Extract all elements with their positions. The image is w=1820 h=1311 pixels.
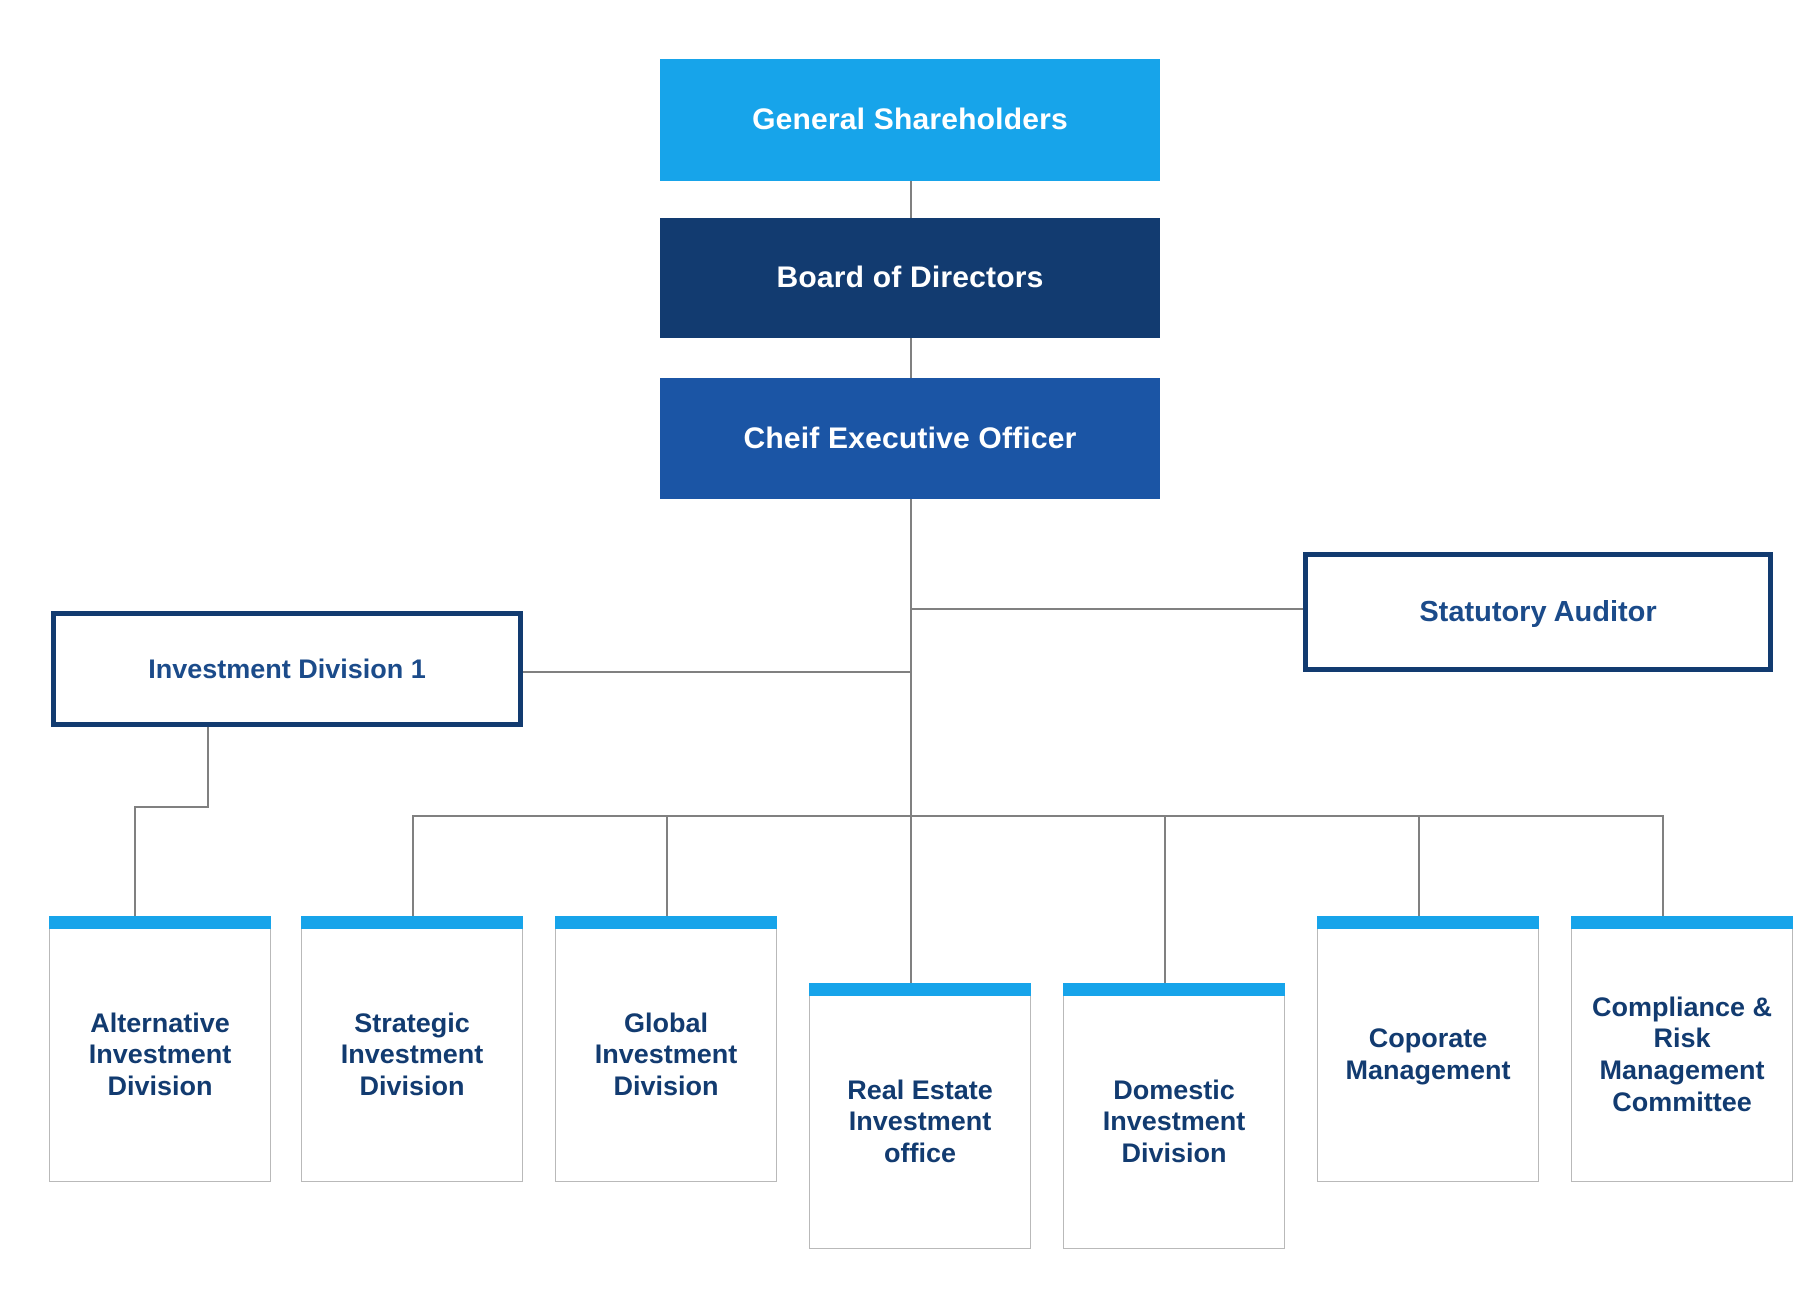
org-chart-canvas: General Shareholders Board of Directors … (0, 0, 1820, 1311)
node-chief-executive-officer[interactable]: Cheif Executive Officer (660, 378, 1160, 499)
node-alternative-investment-division[interactable]: Alternative Investment Division (49, 929, 271, 1182)
connector-bus-to-real-estate (910, 815, 912, 985)
card-cap-strategic-investment-division (301, 916, 523, 929)
connector-board-to-ceo (910, 338, 912, 379)
connector-bus-to-coporate (1418, 815, 1420, 918)
card-cap-alternative-investment-division (49, 916, 271, 929)
connector-ceo-to-investment-division-1 (521, 671, 912, 673)
node-statutory-auditor-label: Statutory Auditor (1419, 596, 1656, 629)
node-global-investment-division-label: Global Investment Division (587, 1008, 746, 1103)
connector-bus-to-strategic (412, 815, 414, 918)
connector-invdiv1-to-alternative (134, 806, 136, 918)
card-cap-coporate-management (1317, 916, 1539, 929)
node-global-investment-division[interactable]: Global Investment Division (555, 929, 777, 1182)
connector-main-bus (412, 815, 1662, 817)
node-coporate-management-label: Coporate Management (1337, 1023, 1518, 1086)
node-general-shareholders-label: General Shareholders (752, 103, 1068, 137)
connector-ceo-spine (910, 499, 912, 817)
connector-shareholders-to-board (910, 181, 912, 219)
connector-invdiv1-jog (134, 806, 209, 808)
card-cap-compliance-risk-management-committee (1571, 916, 1793, 929)
node-investment-division-1[interactable]: Investment Division 1 (51, 611, 523, 727)
node-board-of-directors[interactable]: Board of Directors (660, 218, 1160, 338)
card-cap-domestic-investment-division (1063, 983, 1285, 996)
connector-bus-to-compliance (1662, 815, 1664, 918)
node-alternative-investment-division-label: Alternative Investment Division (81, 1008, 240, 1103)
node-real-estate-investment-office-label: Real Estate Investment office (839, 1075, 1001, 1170)
node-chief-executive-officer-label: Cheif Executive Officer (743, 422, 1076, 456)
node-real-estate-investment-office[interactable]: Real Estate Investment office (809, 996, 1031, 1249)
node-board-of-directors-label: Board of Directors (777, 261, 1044, 295)
node-compliance-risk-management-committee-label: Compliance & Risk Management Committee (1584, 992, 1780, 1118)
connector-ceo-to-statutory-auditor (910, 608, 1305, 610)
node-general-shareholders[interactable]: General Shareholders (660, 59, 1160, 181)
node-domestic-investment-division[interactable]: Domestic Investment Division (1063, 996, 1285, 1249)
node-strategic-investment-division[interactable]: Strategic Investment Division (301, 929, 523, 1182)
node-coporate-management[interactable]: Coporate Management (1317, 929, 1539, 1182)
card-cap-real-estate-investment-office (809, 983, 1031, 996)
connector-bus-to-global (666, 815, 668, 918)
node-investment-division-1-label: Investment Division 1 (148, 654, 426, 685)
node-domestic-investment-division-label: Domestic Investment Division (1095, 1075, 1254, 1170)
node-strategic-investment-division-label: Strategic Investment Division (333, 1008, 492, 1103)
card-cap-global-investment-division (555, 916, 777, 929)
node-statutory-auditor[interactable]: Statutory Auditor (1303, 552, 1773, 672)
node-compliance-risk-management-committee[interactable]: Compliance & Risk Management Committee (1571, 929, 1793, 1182)
connector-bus-to-domestic (1164, 815, 1166, 985)
connector-invdiv1-drop (207, 726, 209, 808)
